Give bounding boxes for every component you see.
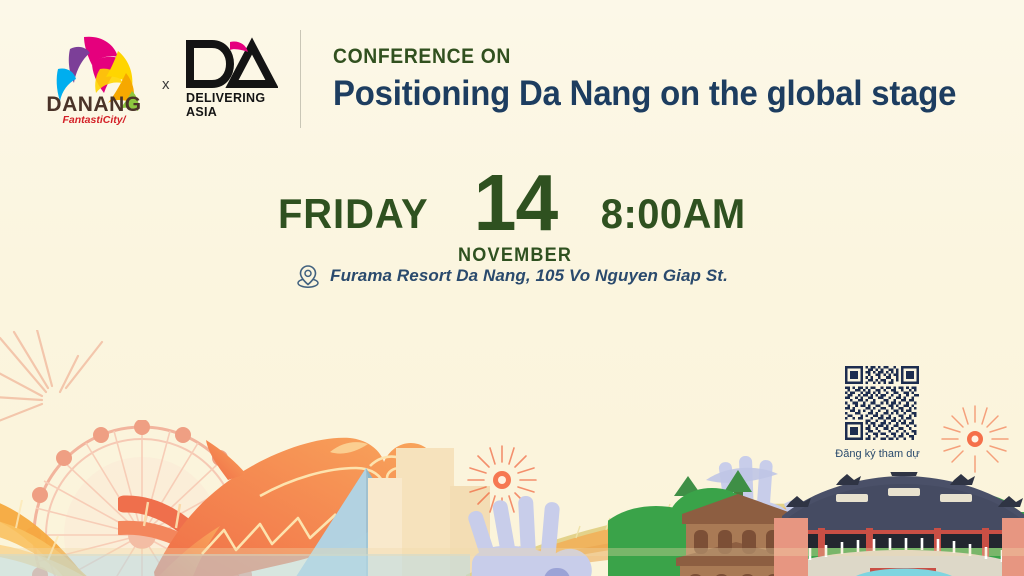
giant-hands-right xyxy=(694,456,844,576)
conference-kicker: CONFERENCE ON xyxy=(333,45,943,69)
registration-block[interactable]: Đăng ký tham dự xyxy=(843,366,921,460)
japanese-covered-bridge xyxy=(774,472,1024,576)
event-day-number: 14 xyxy=(473,170,557,236)
administrative-tower xyxy=(368,448,508,576)
banner-header: DANANG FantastiCity/ x DELIVERING ASIA C… xyxy=(40,30,994,128)
svg-text:DELIVERING: DELIVERING xyxy=(186,91,265,105)
event-venue-text: Furama Resort Da Nang, 105 Vo Nguyen Gia… xyxy=(330,266,728,286)
event-time: 8:00AM xyxy=(601,170,746,238)
qr-code[interactable] xyxy=(845,366,919,440)
giant-hands-left xyxy=(448,472,628,576)
event-day-name: FRIDAY xyxy=(278,170,429,238)
golden-bridge xyxy=(466,452,906,576)
svg-text:ASIA: ASIA xyxy=(186,105,217,119)
danang-fantasticity-logo: DANANG FantastiCity/ xyxy=(40,33,148,125)
delivering-asia-logo: DELIVERING ASIA xyxy=(182,36,278,122)
dragon-bridge-arcs xyxy=(0,452,196,576)
firework-center xyxy=(462,440,542,520)
svg-text:DANANG: DANANG xyxy=(46,93,141,116)
cham-museum xyxy=(672,484,802,576)
bridge-trees xyxy=(662,470,782,576)
water-band xyxy=(0,548,1024,576)
header-divider xyxy=(300,30,301,128)
ferris-wheel xyxy=(0,420,292,576)
firework-right xyxy=(938,402,1012,476)
svg-text:FantastiCity/: FantastiCity/ xyxy=(62,114,126,125)
dragon-head xyxy=(132,404,462,576)
firework-rays-top-left xyxy=(0,330,140,460)
conference-title: Positioning Da Nang on the global stage xyxy=(333,74,956,114)
pyramid-building xyxy=(246,468,466,576)
logo-separator-x: x xyxy=(162,66,170,93)
header-titles: CONFERENCE ON Positioning Da Nang on the… xyxy=(333,45,996,114)
registration-caption: Đăng ký tham dự xyxy=(834,448,921,460)
location-pin-icon xyxy=(296,263,320,289)
event-date-block: FRIDAY 14 NOVEMBER 8:00AM xyxy=(0,170,1024,267)
tree-canopy-band xyxy=(608,470,1024,576)
dragon-bridge-red-arc xyxy=(118,460,318,576)
conference-banner: DANANG FantastiCity/ x DELIVERING ASIA C… xyxy=(0,0,1024,576)
event-venue-row: Furama Resort Da Nang, 105 Vo Nguyen Gia… xyxy=(0,263,1024,289)
